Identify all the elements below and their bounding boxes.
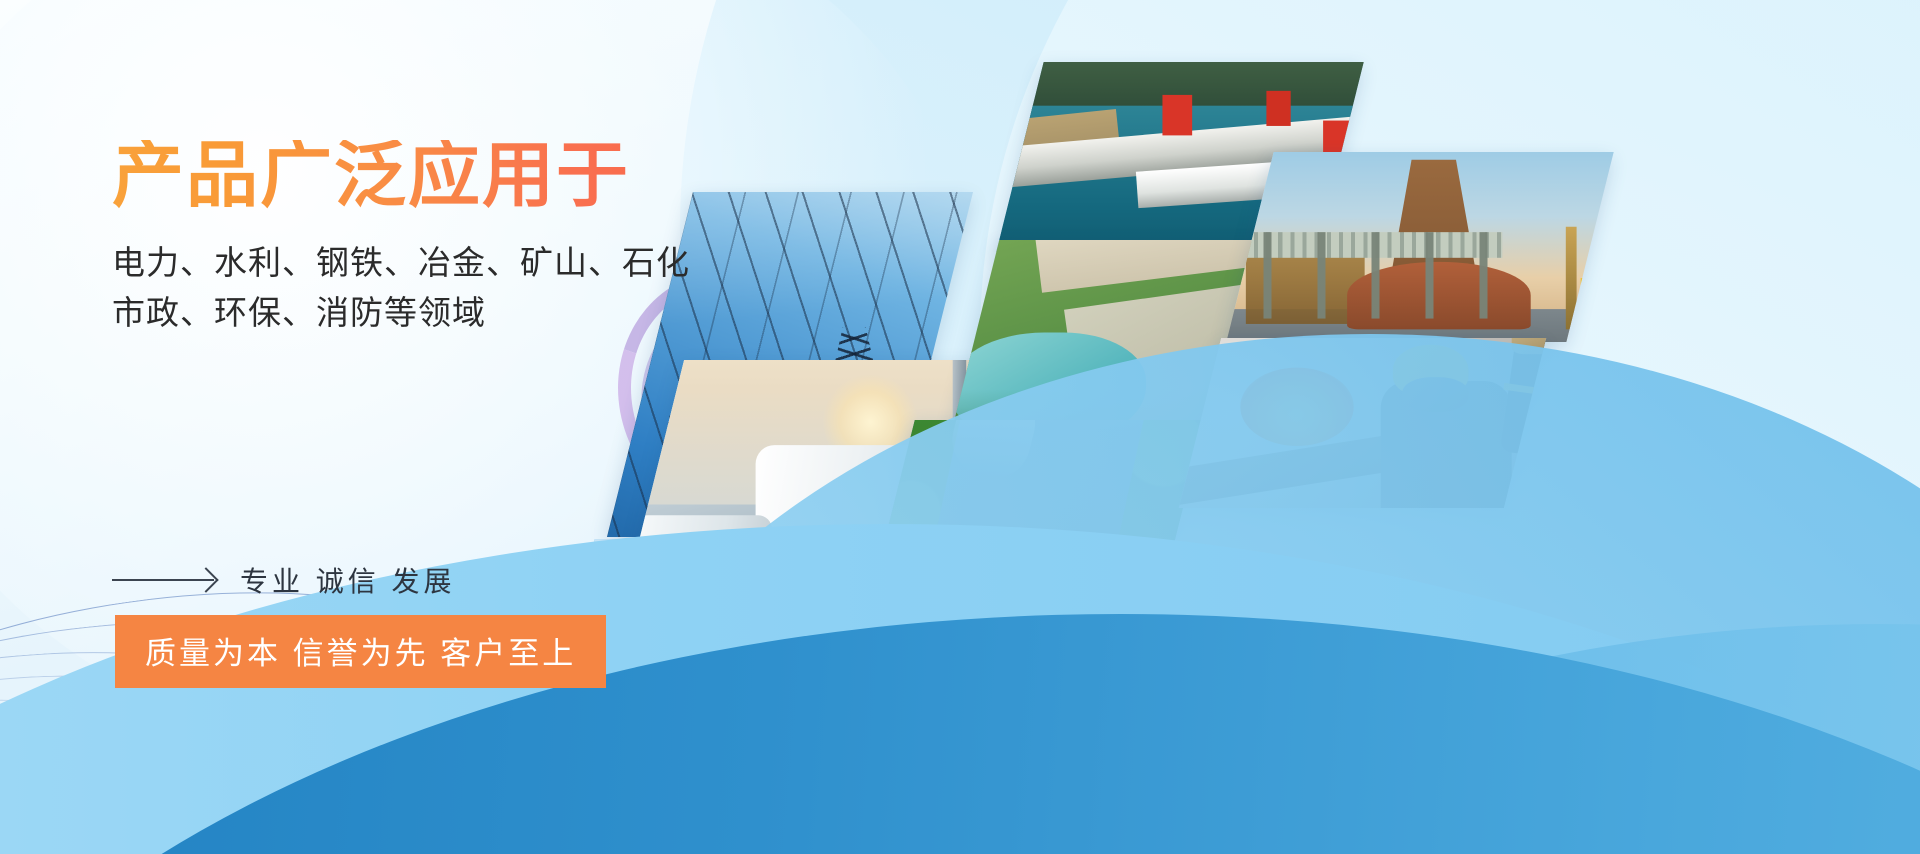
- slogan-badge: 质量为本 信誉为先 客户至上: [115, 615, 606, 688]
- page-title: 产品广泛应用于: [112, 140, 752, 212]
- long-arrow-right-icon: [112, 579, 214, 581]
- subtitle-block: 电力、水利、钢铁、冶金、矿山、石化 市政、环保、消防等领域: [112, 238, 752, 338]
- tagline-row: 专业 诚信 发展: [112, 560, 456, 600]
- photo-steel-mill-blast-furnace: [1226, 152, 1613, 342]
- headline-block: 产品广泛应用于 电力、水利、钢铁、冶金、矿山、石化 市政、环保、消防等领域: [112, 140, 752, 338]
- subtitle-line-1: 电力、水利、钢铁、冶金、矿山、石化: [112, 238, 752, 288]
- subtitle-line-2: 市政、环保、消防等领域: [112, 288, 752, 338]
- tagline-text: 专业 诚信 发展: [224, 560, 456, 600]
- promotional-banner: 产品广泛应用于 电力、水利、钢铁、冶金、矿山、石化 市政、环保、消防等领域 专业…: [0, 0, 1920, 854]
